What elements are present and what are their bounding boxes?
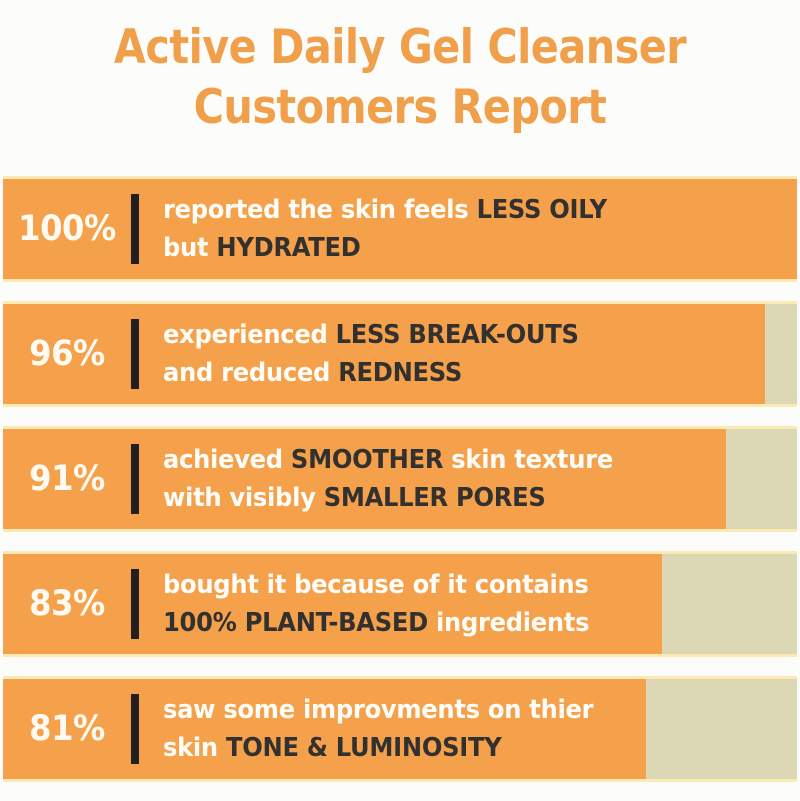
statement-line: 100% PLANT-BASED ingredients xyxy=(163,604,753,642)
report-infographic: Active Daily Gel Cleanser Customers Repo… xyxy=(0,0,800,800)
page-title: Active Daily Gel Cleanser Customers Repo… xyxy=(0,18,800,138)
statement-line: experienced LESS BREAK-OUTS xyxy=(163,316,753,354)
divider-rule xyxy=(131,569,139,639)
statement-line: with visibly SMALLER PORES xyxy=(163,479,753,517)
statement-plain: with visibly xyxy=(163,483,324,513)
stat-row: 96% experienced LESS BREAK-OUTS and redu… xyxy=(0,301,800,407)
bar-content: 81% saw some improvments on thier skin T… xyxy=(3,676,797,782)
divider-rule xyxy=(131,194,139,264)
statement-plain: achieved xyxy=(163,445,291,475)
percent-label: 81% xyxy=(8,712,126,747)
statement-plain: skin xyxy=(163,733,226,763)
statement-plain-after: ingredients xyxy=(428,608,589,638)
divider-rule xyxy=(131,694,139,764)
statement-line: but HYDRATED xyxy=(163,229,753,267)
statement-emphasis: LESS OILY xyxy=(477,195,607,225)
statement-text: achieved SMOOTHER skin texture with visi… xyxy=(163,441,753,517)
stat-bar-list: 100% reported the skin feels LESS OILY b… xyxy=(0,176,800,801)
percent-label: 91% xyxy=(8,462,126,497)
statement-text: reported the skin feels LESS OILY but HY… xyxy=(163,191,753,267)
stat-row: 81% saw some improvments on thier skin T… xyxy=(0,676,800,782)
statement-text: experienced LESS BREAK-OUTS and reduced … xyxy=(163,316,753,392)
statement-emphasis: TONE & LUMINOSITY xyxy=(226,733,501,763)
statement-plain: and reduced xyxy=(163,358,338,388)
percent-label: 96% xyxy=(8,337,126,372)
statement-line: bought it because of it contains xyxy=(163,566,753,604)
title-line-2: Customers Report xyxy=(48,78,752,138)
percent-label: 83% xyxy=(8,587,126,622)
stat-row: 83% bought it because of it contains 100… xyxy=(0,551,800,657)
statement-plain: reported the skin feels xyxy=(163,195,477,225)
divider-rule xyxy=(131,319,139,389)
divider-rule xyxy=(131,444,139,514)
statement-line: and reduced REDNESS xyxy=(163,354,753,392)
statement-plain-after: skin texture xyxy=(443,445,613,475)
bar-content: 91% achieved SMOOTHER skin texture with … xyxy=(3,426,797,532)
title-line-1: Active Daily Gel Cleanser xyxy=(48,18,752,78)
statement-line: achieved SMOOTHER skin texture xyxy=(163,441,753,479)
statement-plain: but xyxy=(163,233,216,263)
statement-plain: bought it because of it contains xyxy=(163,570,589,600)
statement-plain: experienced xyxy=(163,320,336,350)
stat-row: 100% reported the skin feels LESS OILY b… xyxy=(0,176,800,282)
statement-emphasis: SMALLER PORES xyxy=(324,483,546,513)
bar-content: 96% experienced LESS BREAK-OUTS and redu… xyxy=(3,301,797,407)
statement-emphasis: REDNESS xyxy=(338,358,462,388)
statement-line: skin TONE & LUMINOSITY xyxy=(163,729,753,767)
bar-content: 83% bought it because of it contains 100… xyxy=(3,551,797,657)
statement-line: saw some improvments on thier xyxy=(163,691,753,729)
statement-text: saw some improvments on thier skin TONE … xyxy=(163,691,753,767)
statement-emphasis: 100% PLANT-BASED xyxy=(163,608,428,638)
stat-row: 91% achieved SMOOTHER skin texture with … xyxy=(0,426,800,532)
bar-content: 100% reported the skin feels LESS OILY b… xyxy=(3,176,797,282)
statement-line: reported the skin feels LESS OILY xyxy=(163,191,753,229)
statement-emphasis: SMOOTHER xyxy=(291,445,443,475)
percent-label: 100% xyxy=(8,212,126,247)
statement-emphasis: HYDRATED xyxy=(216,233,360,263)
statement-text: bought it because of it contains 100% PL… xyxy=(163,566,753,642)
statement-emphasis: LESS BREAK-OUTS xyxy=(336,320,579,350)
statement-plain: saw some improvments on thier xyxy=(163,695,593,725)
